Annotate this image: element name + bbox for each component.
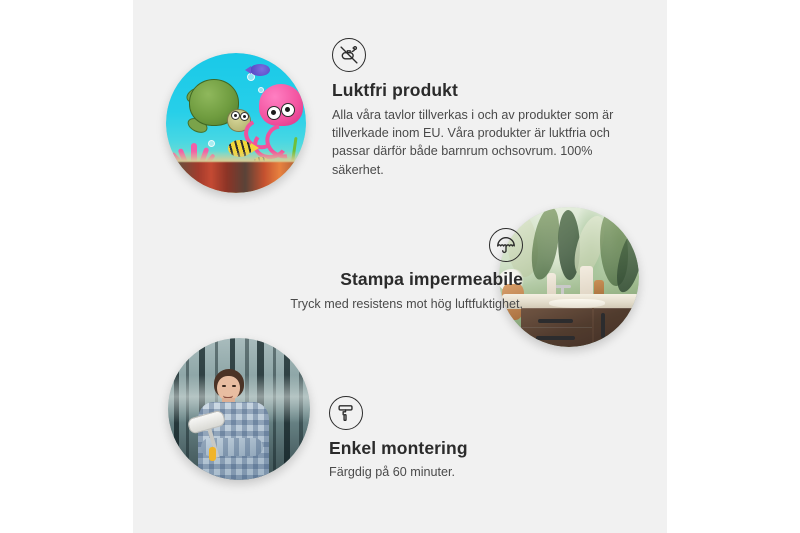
feature-panel: Luktfri produkt Alla våra tavlor tillver… (133, 0, 667, 533)
feature-waterproof-description: Tryck med resistens mot hög luftfuktighe… (208, 295, 523, 313)
feature-waterproof-title: Stampa impermeabile (208, 269, 523, 291)
ocean-rocks (166, 162, 306, 193)
feature-odourless-icon-wrap (332, 38, 622, 72)
feature-easy-install-title: Enkel montering (329, 438, 609, 460)
umbrella-icon (489, 228, 523, 262)
paint-roller-grip (209, 447, 216, 461)
feature-odourless-title: Luktfri produkt (332, 80, 622, 102)
feature-odourless-description: Alla våra tavlor tillverkas i och av pro… (332, 106, 622, 179)
drawer-handle (536, 336, 576, 340)
feature-waterproof: Stampa impermeabile Tryck med resistens … (208, 228, 523, 313)
woman (196, 369, 270, 480)
drawer-handle (538, 319, 573, 323)
feature-easy-install-icon-wrap (329, 396, 609, 430)
infographic-canvas: Luktfri produkt Alla våra tavlor tillver… (0, 0, 800, 533)
drawer (521, 308, 592, 328)
no-fragrance-icon (332, 38, 366, 72)
feature-easy-install: Enkel montering Färgdig på 60 minuter. (329, 396, 609, 481)
vanity-cabinet (521, 308, 639, 347)
image-woman-with-paint-roller (168, 338, 310, 480)
door-handle (601, 313, 605, 337)
feature-easy-install-description: Färgdig på 60 minuter. (329, 463, 609, 481)
feature-waterproof-icon-wrap (208, 228, 523, 269)
image-underwater-cartoon-mural (166, 53, 306, 193)
paint-roller-icon (329, 396, 363, 430)
sink-basin (549, 299, 605, 307)
fish-blue (250, 64, 270, 76)
feature-odourless: Luktfri produkt Alla våra tavlor tillver… (332, 38, 622, 179)
turtle (186, 78, 250, 134)
